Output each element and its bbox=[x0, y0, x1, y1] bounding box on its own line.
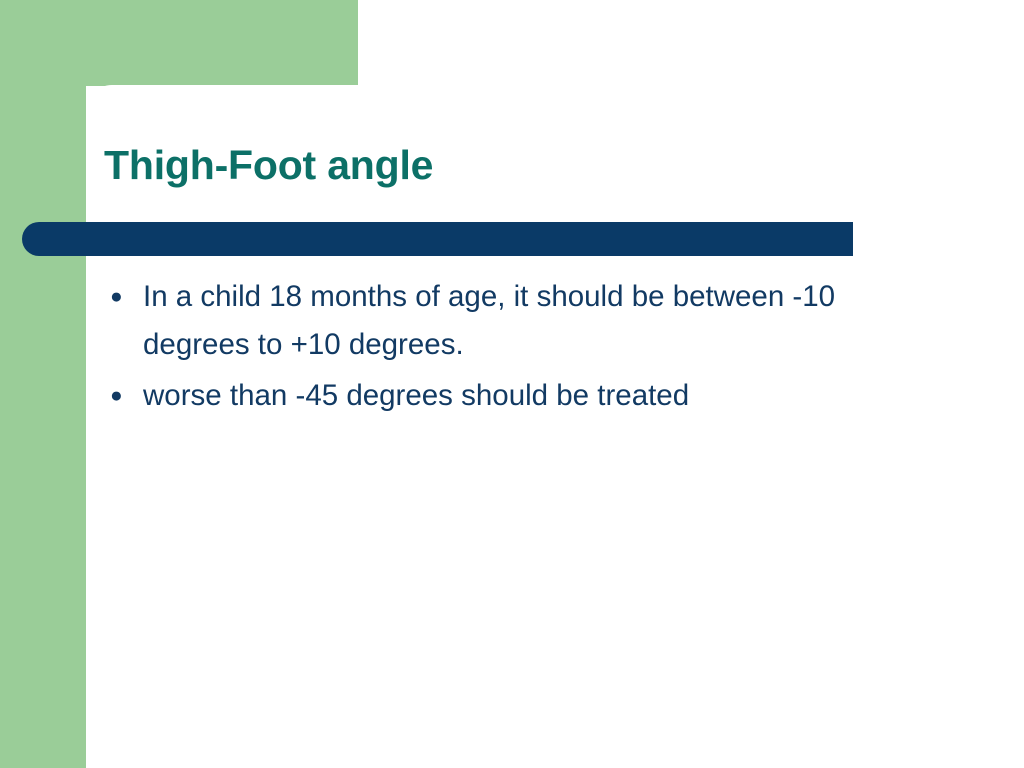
green-header-block bbox=[0, 0, 358, 86]
slide-canvas: Thigh-Foot angle ● In a child 18 months … bbox=[0, 0, 1024, 768]
title-accent-bar bbox=[22, 222, 853, 256]
list-item-text: worse than -45 degrees should be treated bbox=[143, 372, 934, 420]
list-item: ● worse than -45 degrees should be treat… bbox=[104, 372, 934, 420]
list-item-text: In a child 18 months of age, it should b… bbox=[143, 273, 934, 369]
bullet-point-icon: ● bbox=[110, 372, 123, 420]
green-left-panel bbox=[0, 0, 86, 768]
bullet-point-icon: ● bbox=[110, 273, 123, 321]
bullet-list: ● In a child 18 months of age, it should… bbox=[104, 273, 934, 423]
page-title: Thigh-Foot angle bbox=[104, 141, 904, 189]
list-item: ● In a child 18 months of age, it should… bbox=[104, 273, 934, 369]
